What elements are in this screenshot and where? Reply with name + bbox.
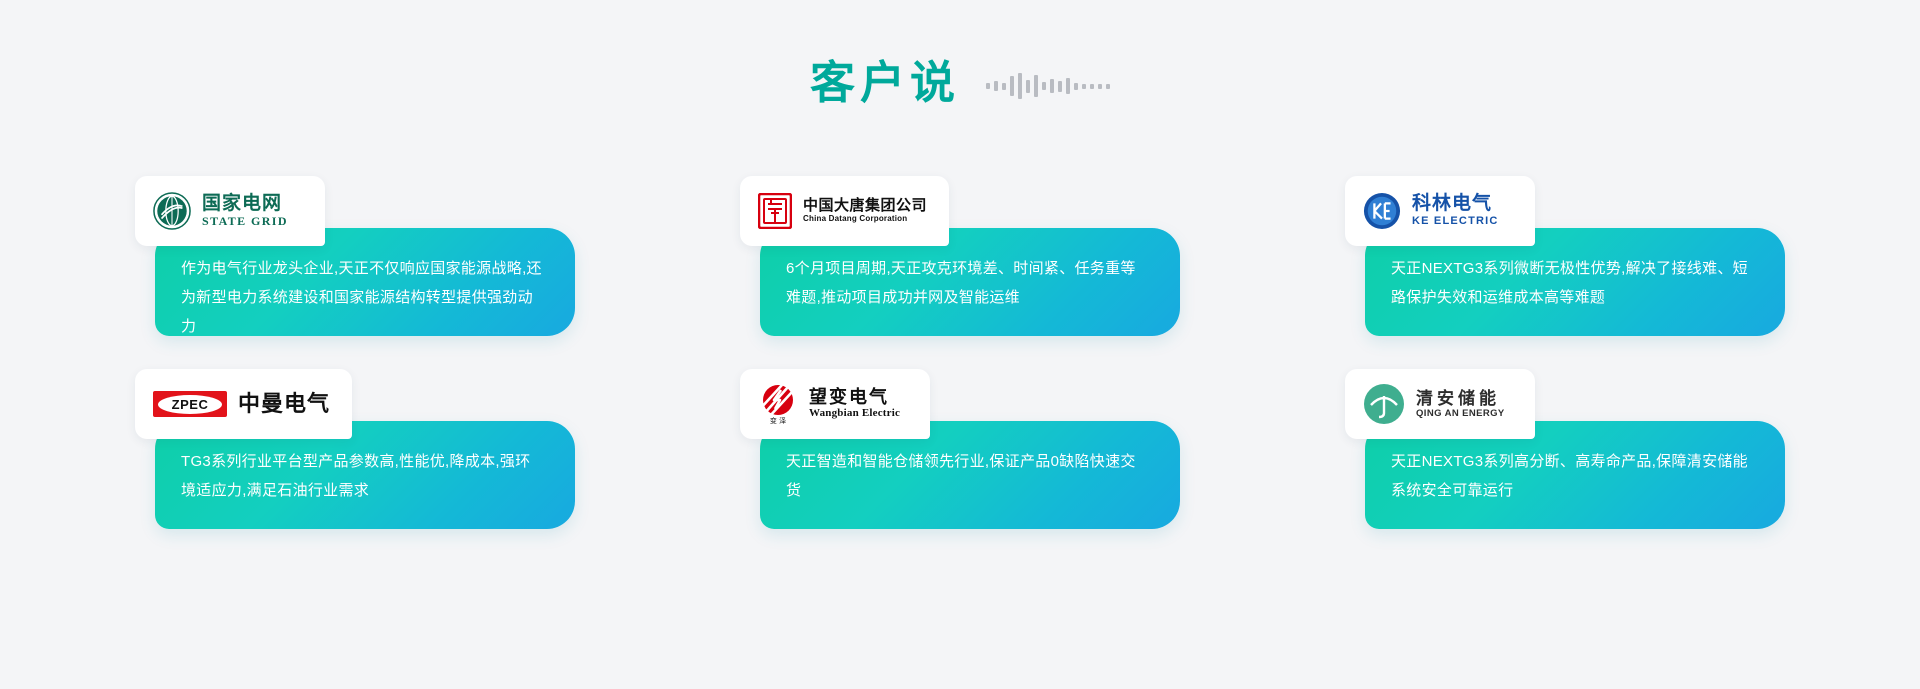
testimonial-quote: 天正智造和智能仓储领先行业,保证产品0缺陷快速交货 — [786, 447, 1150, 505]
logo-text: 科林电气 KE ELECTRIC — [1412, 193, 1499, 228]
testimonial-quote: 天正NEXTG3系列微断无极性优势,解决了接线难、短路保护失效和运维成本高等难题 — [1391, 254, 1755, 312]
logo-name-en: ZPEC — [158, 395, 222, 414]
logo-name-cn: 望变电气 — [809, 387, 900, 407]
svg-text:变 泽: 变 泽 — [770, 416, 786, 425]
logo-name-cn: 科林电气 — [1412, 193, 1499, 214]
logo-name-en: Wangbian Electric — [809, 407, 900, 421]
logo-name-cn: 中国大唐集团公司 — [803, 198, 927, 215]
logo-name-cn: 清安储能 — [1416, 389, 1505, 408]
testimonial-card[interactable]: 天正智造和智能仓储领先行业,保证产品0缺陷快速交货 变 泽 望变电气 Wangb… — [740, 369, 1180, 529]
testimonial-card[interactable]: TG3系列行业平台型产品参数高,性能优,降成本,强环境适应力,满足石油行业需求 … — [135, 369, 575, 529]
logo-text: 中国大唐集团公司 China Datang Corporation — [803, 198, 927, 225]
company-logo-badge: 国家电网 STATE GRID — [135, 176, 325, 246]
logo-name-cn: 中曼电气 — [238, 392, 330, 417]
logo-name-en: STATE GRID — [202, 214, 288, 229]
ke-electric-logo-icon — [1363, 192, 1401, 230]
company-logo-badge: ZPEC 中曼电气 — [135, 369, 352, 439]
testimonial-card[interactable]: 天正NEXTG3系列高分断、高寿命产品,保障清安储能系统安全可靠运行 清安储能 … — [1345, 369, 1785, 529]
section-header: 客户说 — [0, 58, 1920, 106]
testimonial-card[interactable]: 6个月项目周期,天正攻克环境差、时间紧、任务重等难题,推动项目成功并网及智能运维… — [740, 176, 1180, 336]
logo-name-en: KE ELECTRIC — [1412, 215, 1499, 229]
logo-text: 国家电网 STATE GRID — [202, 193, 288, 229]
testimonial-card[interactable]: 作为电气行业龙头企业,天正不仅响应国家能源战略,还为新型电力系统建设和国家能源结… — [135, 176, 575, 336]
state-grid-logo-icon — [153, 192, 191, 230]
company-logo-badge: 中国大唐集团公司 China Datang Corporation — [740, 176, 949, 246]
qingan-energy-logo-icon — [1363, 383, 1405, 425]
zpec-wordmark: ZPEC — [153, 391, 227, 417]
testimonial-quote: 作为电气行业龙头企业,天正不仅响应国家能源战略,还为新型电力系统建设和国家能源结… — [181, 254, 545, 341]
company-logo-badge: 清安储能 QING AN ENERGY — [1345, 369, 1535, 439]
testimonial-card[interactable]: 天正NEXTG3系列微断无极性优势,解决了接线难、短路保护失效和运维成本高等难题… — [1345, 176, 1785, 336]
logo-name-en: China Datang Corporation — [803, 214, 927, 224]
testimonial-quote: TG3系列行业平台型产品参数高,性能优,降成本,强环境适应力,满足石油行业需求 — [181, 447, 545, 505]
testimonial-quote: 天正NEXTG3系列高分断、高寿命产品,保障清安储能系统安全可靠运行 — [1391, 447, 1755, 505]
testimonial-quote: 6个月项目周期,天正攻克环境差、时间紧、任务重等难题,推动项目成功并网及智能运维 — [786, 254, 1150, 312]
company-logo-badge: 科林电气 KE ELECTRIC — [1345, 176, 1535, 246]
logo-name-cn: 国家电网 — [202, 193, 288, 214]
logo-text: 中曼电气 — [238, 392, 330, 417]
china-datang-seal-icon — [758, 193, 792, 229]
logo-name-en: QING AN ENERGY — [1416, 408, 1505, 420]
testimonial-grid: 作为电气行业龙头企业,天正不仅响应国家能源战略,还为新型电力系统建设和国家能源结… — [135, 176, 1785, 529]
logo-text: 清安储能 QING AN ENERGY — [1416, 389, 1505, 420]
audio-waveform-icon — [986, 58, 1110, 106]
page-title: 客户说 — [810, 60, 960, 105]
company-logo-badge: 变 泽 望变电气 Wangbian Electric — [740, 369, 930, 439]
zpec-logo-icon: ZPEC — [153, 391, 227, 417]
logo-text: 望变电气 Wangbian Electric — [809, 387, 900, 421]
wangbian-electric-logo-icon: 变 泽 — [758, 383, 798, 425]
